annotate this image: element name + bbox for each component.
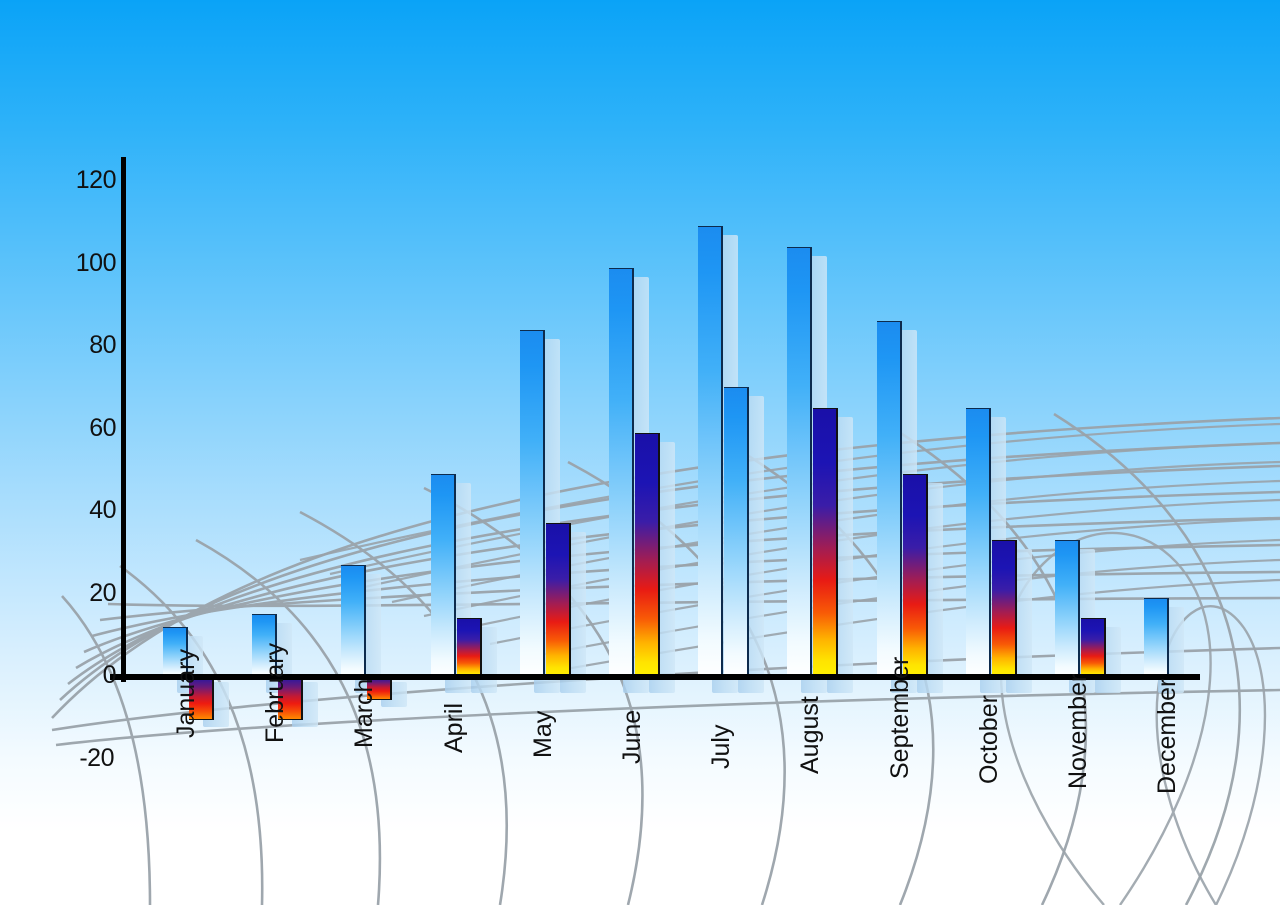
y-tick-label-40: 40 [46, 496, 116, 525]
x-axis-label-march: March [350, 679, 379, 748]
x-axis-label-june: June [618, 709, 647, 763]
bar-blue-november [1055, 540, 1080, 677]
bar-blue-april [431, 474, 456, 677]
y-tick-label-80: 80 [46, 331, 116, 360]
x-axis-label-january: January [172, 649, 201, 738]
bar-warm-august [813, 408, 838, 677]
x-axis-label-october: October [975, 695, 1004, 784]
bar-warm-october [992, 540, 1017, 677]
x-axis-label-august: August [796, 696, 825, 774]
x-axis-label-november: November [1064, 674, 1093, 789]
x-axis-label-may: May [529, 711, 558, 758]
x-axis-label-february: February [261, 643, 290, 743]
bar-warm-november [1081, 618, 1106, 677]
y-tick-label-120: 120 [46, 166, 116, 195]
bar-warm-september [903, 474, 928, 677]
x-axis-label-december: December [1153, 679, 1182, 794]
y-tick-label-60: 60 [46, 414, 116, 443]
bar-blue-october [966, 408, 991, 677]
x-axis-label-september: September [886, 657, 915, 779]
y-axis-line [121, 157, 126, 682]
bar-warm-may [546, 523, 571, 677]
bar-blue-july [698, 226, 723, 677]
bar-blue-september [877, 321, 902, 677]
chart-canvas: 120100806040200-20 JanuaryFebruaryMarchA… [0, 0, 1280, 905]
bar-warm-april [457, 618, 482, 677]
x-axis-label-april: April [440, 703, 469, 753]
y-tick-label-100: 100 [46, 249, 116, 278]
y-tick-label-minus20: -20 [44, 744, 114, 773]
y-tick-label-20: 20 [46, 579, 116, 608]
bar-blue-june [609, 268, 634, 677]
bar-blue-may [520, 330, 545, 678]
bar-blue-august [787, 247, 812, 677]
x-axis-label-july: July [707, 724, 736, 768]
bar-warm-june [635, 433, 660, 677]
bar-warm-july [724, 387, 749, 677]
y-tick-label-0: 0 [46, 661, 116, 690]
bar-blue-december [1144, 598, 1169, 677]
bar-blue-march [341, 565, 366, 677]
